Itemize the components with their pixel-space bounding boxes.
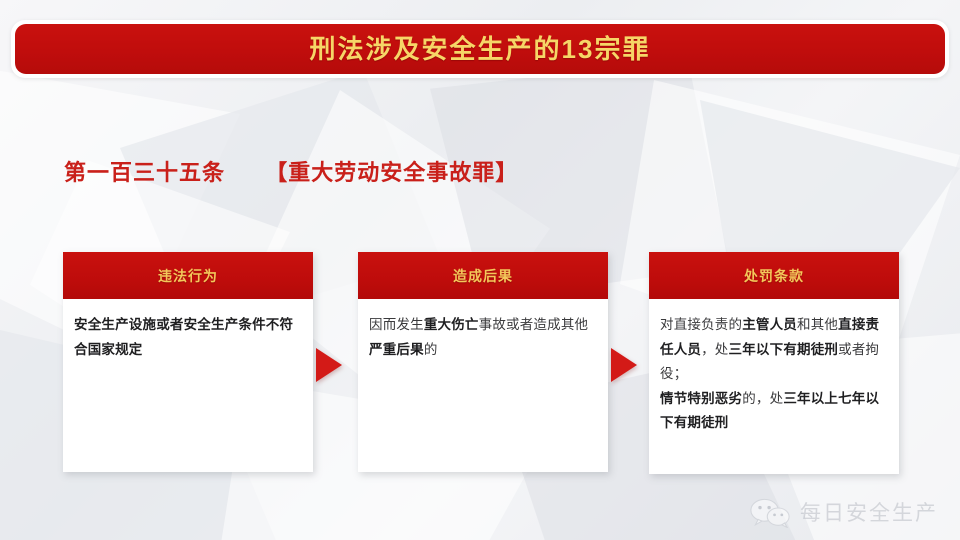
card-header: 处罚条款	[649, 252, 899, 299]
card-header: 造成后果	[358, 252, 608, 299]
arrow-right-icon	[611, 348, 637, 382]
card-body-text: 因而发生重大伤亡事故或者造成其他严重后果的	[358, 299, 608, 372]
card-violation: 违法行为 安全生产设施或者安全生产条件不符合国家规定	[63, 252, 313, 472]
wechat-account-brand: 每日安全生产	[750, 498, 938, 528]
card-header-label: 处罚条款	[744, 269, 804, 283]
card-row: 违法行为 安全生产设施或者安全生产条件不符合国家规定 造成后果 因而发生重大伤亡…	[0, 252, 960, 482]
card-header: 违法行为	[63, 252, 313, 299]
card-penalty: 处罚条款 对直接负责的主管人员和其他直接责任人员，处三年以下有期徒刑或者拘役；情…	[649, 252, 899, 474]
card-body-text: 安全生产设施或者安全生产条件不符合国家规定	[63, 299, 313, 372]
card-header-label: 违法行为	[158, 269, 218, 283]
article-number: 第一百三十五条	[64, 160, 225, 185]
slide-title-banner: 刑法涉及安全生产的13宗罪	[11, 20, 949, 78]
wechat-icon	[750, 498, 790, 528]
slide-canvas: 刑法涉及安全生产的13宗罪 第一百三十五条 【重大劳动安全事故罪】 违法行为 安…	[0, 0, 960, 540]
article-subtitle: 第一百三十五条 【重大劳动安全事故罪】	[64, 160, 518, 186]
arrow-right-icon	[316, 348, 342, 382]
page-title: 刑法涉及安全生产的13宗罪	[310, 36, 651, 62]
card-consequence: 造成后果 因而发生重大伤亡事故或者造成其他严重后果的	[358, 252, 608, 472]
card-header-label: 造成后果	[453, 269, 513, 283]
crime-name: 【重大劳动安全事故罪】	[265, 160, 518, 185]
slide-title-bar: 刑法涉及安全生产的13宗罪	[15, 24, 945, 74]
card-body-text: 对直接负责的主管人员和其他直接责任人员，处三年以下有期徒刑或者拘役；情节特别恶劣…	[649, 299, 899, 446]
wechat-account-name: 每日安全生产	[800, 503, 938, 524]
